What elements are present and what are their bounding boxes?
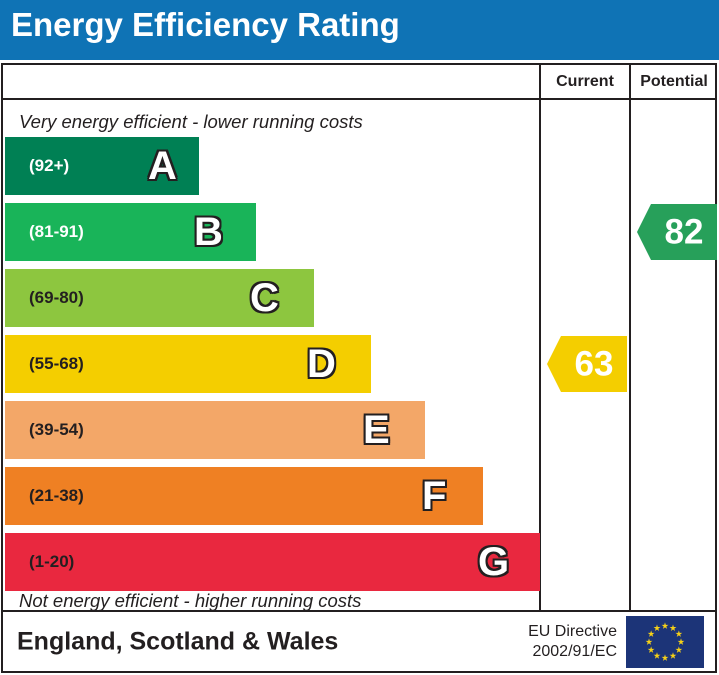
band-bars-area: (92+)A(81-91)B(69-80)C(55-68)D(39-54)E(2… [3, 65, 539, 610]
band-range-d: (55-68) [29, 354, 84, 374]
eu-star-8 [654, 652, 661, 659]
band-range-e: (39-54) [29, 420, 84, 440]
band-row-b: (81-91)B [5, 203, 256, 261]
band-letter-e: E [363, 410, 390, 450]
caption-inefficient: Not energy efficient - higher running co… [19, 590, 361, 612]
rating-table: Current Potential Very energy efficient … [1, 63, 717, 612]
band-bar-g [5, 533, 540, 591]
footer-eu-directive: EU Directive 2002/91/EC [528, 622, 617, 662]
band-row-d: (55-68)D [5, 335, 371, 393]
band-letter-d: D [307, 344, 336, 384]
band-letter-f: F [422, 476, 446, 516]
band-row-f: (21-38)F [5, 467, 483, 525]
certificate-footer: England, Scotland & Wales EU Directive 2… [1, 612, 717, 673]
rating-value-potential: 82 [651, 215, 717, 250]
band-row-e: (39-54)E [5, 401, 425, 459]
eu-star-1 [662, 622, 669, 629]
footer-directive-line-2: 2002/91/EC [528, 642, 617, 662]
chart-title-bar: Energy Efficiency Rating [0, 0, 719, 60]
eu-star-5 [675, 646, 682, 653]
rating-value-current: 63 [561, 347, 627, 382]
page-title: Energy Efficiency Rating [11, 6, 400, 44]
eu-star-10 [646, 638, 653, 645]
band-range-b: (81-91) [29, 222, 84, 242]
eu-star-12 [654, 624, 661, 631]
band-letter-c: C [250, 278, 279, 318]
footer-region-label: England, Scotland & Wales [17, 627, 338, 656]
eu-flag-icon [626, 616, 704, 668]
column-divider-current [539, 65, 541, 610]
band-row-a: (92+)A [5, 137, 199, 195]
band-letter-b: B [194, 212, 223, 252]
band-range-c: (69-80) [29, 288, 84, 308]
band-range-f: (21-38) [29, 486, 84, 506]
eu-star-11 [648, 630, 655, 637]
band-range-a: (92+) [29, 156, 69, 176]
band-letter-a: A [148, 146, 177, 186]
band-row-g: (1-20)G [5, 533, 540, 591]
energy-efficiency-rating-certificate: Energy Efficiency Rating Current Potenti… [0, 0, 719, 675]
column-header-current: Current [541, 65, 629, 98]
eu-star-6 [670, 652, 677, 659]
rating-marker-potential: 82 [637, 204, 717, 260]
eu-star-9 [648, 646, 655, 653]
band-row-c: (69-80)C [5, 269, 314, 327]
eu-flag-stars-icon [626, 616, 704, 668]
eu-star-3 [675, 630, 682, 637]
rating-marker-current: 63 [547, 336, 627, 392]
footer-directive-line-1: EU Directive [528, 622, 617, 642]
band-letter-g: G [478, 542, 509, 582]
column-divider-potential [629, 65, 631, 610]
eu-star-4 [678, 638, 685, 645]
band-range-g: (1-20) [29, 552, 74, 572]
column-header-potential: Potential [631, 65, 717, 98]
eu-star-2 [670, 624, 677, 631]
eu-star-7 [662, 654, 669, 661]
